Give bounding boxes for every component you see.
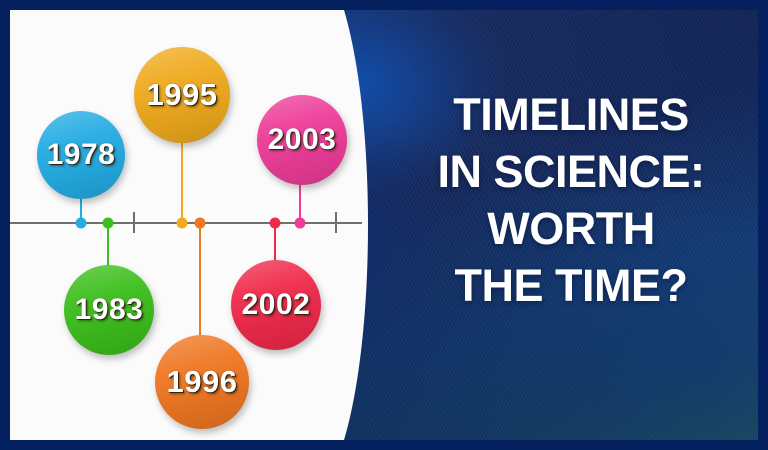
- timeline-event-bubble-2002[interactable]: 2002: [231, 260, 321, 350]
- timeline-event-year-label: 1995: [147, 77, 218, 113]
- timeline-dot-2003[interactable]: [295, 218, 306, 229]
- timeline-tick-2: [335, 212, 337, 233]
- title-line-2: IN SCIENCE:: [384, 143, 758, 200]
- title-line-3: WORTH: [384, 200, 758, 257]
- timeline-event-year-label: 1978: [47, 138, 116, 172]
- timeline-dot-1983[interactable]: [103, 218, 114, 229]
- timeline-dot-1995[interactable]: [177, 218, 188, 229]
- timeline-stem-1995: [181, 139, 183, 223]
- timeline-event-year-label: 2003: [268, 123, 337, 157]
- title-line-1: TIMELINES: [384, 86, 758, 143]
- infographic-canvas: 197819952003198319962002 TIMELINES IN SC…: [0, 0, 768, 450]
- timeline-event-bubble-2003[interactable]: 2003: [257, 95, 347, 185]
- timeline-stem-1996: [199, 223, 201, 339]
- timeline-tick-1: [133, 212, 135, 233]
- timeline-event-year-label: 1996: [167, 364, 238, 400]
- timeline-dot-2002[interactable]: [270, 218, 281, 229]
- timeline-stem-2002: [274, 223, 276, 264]
- timeline-event-bubble-1996[interactable]: 1996: [155, 335, 249, 429]
- timeline-event-bubble-1983[interactable]: 1983: [64, 265, 154, 355]
- timeline-event-bubble-1995[interactable]: 1995: [134, 47, 230, 143]
- timeline-stem-1983: [107, 223, 109, 269]
- timeline-event-year-label: 1983: [75, 293, 144, 327]
- timeline-event-bubble-1978[interactable]: 1978: [37, 111, 125, 199]
- timeline-dot-1978[interactable]: [76, 218, 87, 229]
- timeline-dot-1996[interactable]: [195, 218, 206, 229]
- page-title: TIMELINES IN SCIENCE: WORTH THE TIME?: [384, 86, 758, 314]
- timeline-event-year-label: 2002: [242, 288, 311, 322]
- timeline-graphic: 197819952003198319962002: [10, 10, 362, 440]
- title-line-4: THE TIME?: [384, 257, 758, 314]
